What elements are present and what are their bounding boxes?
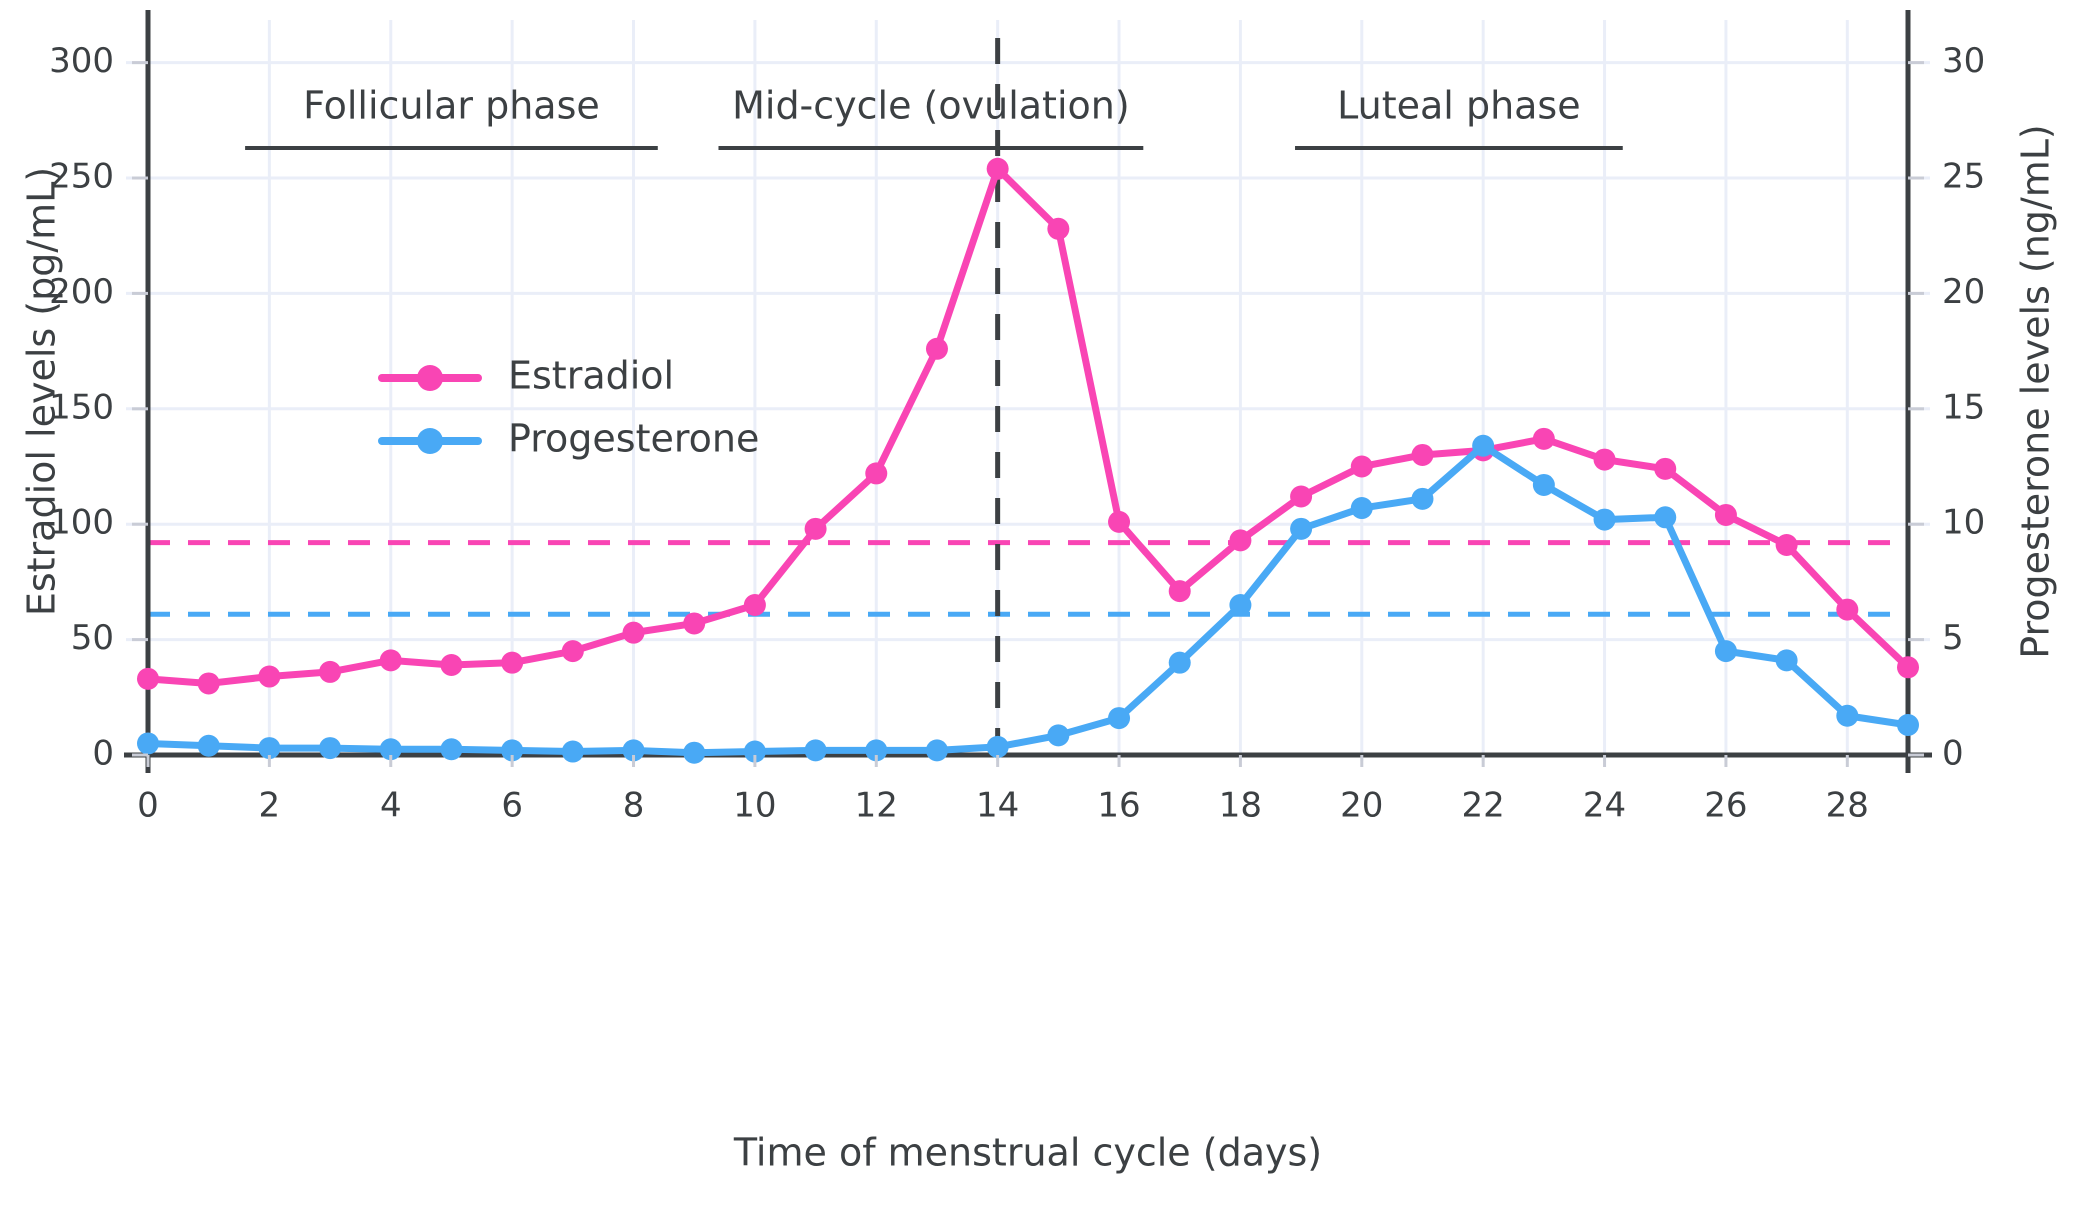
- data-point[interactable]: [501, 652, 523, 674]
- y-tick-label-right-10: 10: [1942, 503, 1985, 543]
- data-point[interactable]: [1108, 707, 1130, 729]
- data-point[interactable]: [562, 640, 584, 662]
- data-point[interactable]: [926, 338, 948, 360]
- x-tick-label-2: 2: [259, 786, 281, 826]
- data-point[interactable]: [1897, 714, 1919, 736]
- x-tick-label-24: 24: [1583, 786, 1626, 826]
- data-point[interactable]: [1836, 599, 1858, 621]
- y-tick-label-right-15: 15: [1942, 387, 1985, 427]
- x-tick-label-10: 10: [733, 786, 776, 826]
- data-point[interactable]: [440, 654, 462, 676]
- data-point[interactable]: [258, 666, 280, 688]
- data-point[interactable]: [562, 741, 584, 763]
- data-point[interactable]: [1533, 428, 1555, 450]
- legend-label: Progesterone: [508, 417, 759, 461]
- y-tick-label-right-20: 20: [1942, 272, 1985, 312]
- data-point[interactable]: [926, 739, 948, 761]
- data-point[interactable]: [1776, 534, 1798, 556]
- data-point[interactable]: [1290, 518, 1312, 540]
- mid-cycle-phase-label: Mid-cycle (ovulation): [732, 84, 1130, 128]
- y-axis-title-left: Estradiol levels (pg/mL): [20, 167, 64, 616]
- x-tick-label-26: 26: [1704, 786, 1747, 826]
- y-tick-label-left-50: 50: [71, 618, 114, 658]
- legend-item-progesterone[interactable]: Progesterone: [382, 417, 759, 461]
- data-point[interactable]: [805, 739, 827, 761]
- data-point[interactable]: [1169, 652, 1191, 674]
- data-point[interactable]: [1472, 435, 1494, 457]
- x-tick-label-28: 28: [1826, 786, 1869, 826]
- data-point[interactable]: [1351, 497, 1373, 519]
- data-point[interactable]: [1654, 506, 1676, 528]
- y-tick-label-right-5: 5: [1942, 618, 1964, 658]
- legend-item-estradiol[interactable]: Estradiol: [382, 354, 674, 398]
- series-line-progesterone: [148, 446, 1908, 753]
- x-tick-label-12: 12: [855, 786, 898, 826]
- data-point[interactable]: [1047, 724, 1069, 746]
- legend-swatch-marker: [417, 428, 443, 454]
- data-point[interactable]: [1047, 218, 1069, 240]
- y-tick-label-left-300: 300: [49, 41, 114, 81]
- data-point[interactable]: [623, 622, 645, 644]
- data-point[interactable]: [1533, 474, 1555, 496]
- data-point[interactable]: [805, 518, 827, 540]
- x-tick-label-20: 20: [1340, 786, 1383, 826]
- data-point[interactable]: [1229, 594, 1251, 616]
- legend-label: Estradiol: [508, 354, 674, 398]
- data-point[interactable]: [1411, 444, 1433, 466]
- data-point[interactable]: [1411, 488, 1433, 510]
- data-point[interactable]: [1836, 705, 1858, 727]
- data-point[interactable]: [380, 649, 402, 671]
- menstrual-hormone-line-chart: Follicular phaseMid-cycle (ovulation)Lut…: [0, 0, 2077, 1208]
- x-tick-label-6: 6: [501, 786, 523, 826]
- data-point[interactable]: [865, 462, 887, 484]
- data-point[interactable]: [440, 738, 462, 760]
- x-tick-label-14: 14: [976, 786, 1019, 826]
- follicular-phase-label: Follicular phase: [303, 84, 600, 128]
- x-tick-label-8: 8: [623, 786, 645, 826]
- y-tick-label-right-30: 30: [1942, 41, 1985, 81]
- series-progesterone: [137, 435, 1919, 764]
- data-point[interactable]: [683, 612, 705, 634]
- luteal-phase-label: Luteal phase: [1337, 84, 1580, 128]
- x-tick-label-16: 16: [1097, 786, 1140, 826]
- data-point[interactable]: [987, 736, 1009, 758]
- data-point[interactable]: [1897, 656, 1919, 678]
- data-point[interactable]: [1594, 509, 1616, 531]
- x-tick-label-18: 18: [1219, 786, 1262, 826]
- data-point[interactable]: [198, 735, 220, 757]
- data-point[interactable]: [1169, 580, 1191, 602]
- data-point[interactable]: [987, 158, 1009, 180]
- chart-canvas: Follicular phaseMid-cycle (ovulation)Lut…: [0, 0, 2077, 1208]
- data-point[interactable]: [1715, 504, 1737, 526]
- data-point[interactable]: [137, 668, 159, 690]
- data-point[interactable]: [1290, 486, 1312, 508]
- x-tick-label-4: 4: [380, 786, 402, 826]
- legend-swatch-marker: [417, 365, 443, 391]
- data-point[interactable]: [683, 742, 705, 764]
- data-point[interactable]: [1594, 449, 1616, 471]
- x-tick-label-22: 22: [1462, 786, 1505, 826]
- data-point[interactable]: [319, 661, 341, 683]
- data-point[interactable]: [198, 672, 220, 694]
- y-tick-label-right-25: 25: [1942, 157, 1985, 197]
- y-tick-label-right-0: 0: [1942, 734, 1964, 774]
- x-axis-title: Time of menstrual cycle (days): [733, 1131, 1322, 1175]
- data-point[interactable]: [137, 732, 159, 754]
- data-point[interactable]: [1715, 640, 1737, 662]
- data-point[interactable]: [1776, 649, 1798, 671]
- x-tick-label-0: 0: [137, 786, 159, 826]
- data-point[interactable]: [744, 594, 766, 616]
- data-point[interactable]: [319, 737, 341, 759]
- y-axis-title-right: Progesterone levels (ng/mL): [2014, 124, 2058, 659]
- data-point[interactable]: [1654, 458, 1676, 480]
- data-point[interactable]: [1229, 529, 1251, 551]
- series-line-estradiol: [148, 169, 1908, 684]
- data-point[interactable]: [1351, 456, 1373, 478]
- data-point[interactable]: [1108, 511, 1130, 533]
- y-tick-label-left-0: 0: [92, 734, 114, 774]
